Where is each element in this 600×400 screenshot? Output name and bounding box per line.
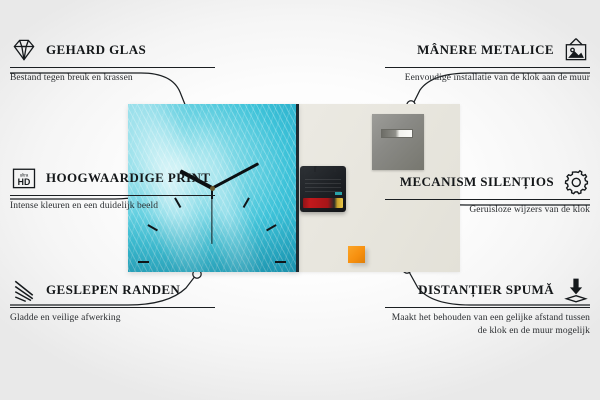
feature-distantier-spuma: DISTANȚIER SPUMĂ Maakt het behouden van … xyxy=(385,276,590,337)
infographic-canvas: GEHARD GLAS Bestand tegen breuk en krass… xyxy=(0,0,600,400)
svg-text:HD: HD xyxy=(18,177,31,187)
ultra-hd-icon: ultra HD xyxy=(10,164,38,192)
feature-description: Gladde en veilige afwerking xyxy=(10,308,215,325)
minute-hand xyxy=(211,162,258,189)
hour-tick xyxy=(275,261,286,263)
feature-header: MÂNERE METALICE xyxy=(385,36,590,67)
hanger-keyhole-slot xyxy=(381,129,413,138)
feature-description: Eenvoudige installatie van de klok aan d… xyxy=(385,68,590,85)
feature-header: DISTANȚIER SPUMĂ xyxy=(385,276,590,307)
feature-title: MECANISM SILENȚIOS xyxy=(400,174,554,189)
feature-description: Geruisloze wijzers van de klok xyxy=(385,200,590,217)
picture-hanging-icon xyxy=(562,36,590,64)
feature-manere-metalice: MÂNERE METALICE Eenvoudige installatie v… xyxy=(385,36,590,85)
feature-header: GESLEPEN RANDEN xyxy=(10,276,215,307)
movement-hanging-loop xyxy=(314,166,336,172)
beveled-edges-icon xyxy=(10,276,38,304)
hour-tick xyxy=(138,261,149,263)
feature-geslepen-randen: GESLEPEN RANDEN Gladde en veilige afwerk… xyxy=(10,276,215,325)
feature-description: Maakt het behouden van een gelijke afsta… xyxy=(385,308,590,337)
feature-hoogwaardige-print: ultra HD HOOGWAARDIGE PRINT Intense kleu… xyxy=(10,164,215,213)
diamond-icon xyxy=(10,36,38,64)
feature-gehard-glas: GEHARD GLAS Bestand tegen breuk en krass… xyxy=(10,36,215,85)
feature-header: ultra HD HOOGWAARDIGE PRINT xyxy=(10,164,215,195)
feature-header: MECANISM SILENȚIOS xyxy=(385,168,590,199)
feature-title: GEHARD GLAS xyxy=(46,42,146,57)
feature-title: HOOGWAARDIGE PRINT xyxy=(46,170,210,185)
feature-mecanism-silentios: MECANISM SILENȚIOS Geruisloze wijzers va… xyxy=(385,168,590,217)
feature-title: GESLEPEN RANDEN xyxy=(46,282,180,297)
clock-movement xyxy=(300,166,346,212)
gear-icon xyxy=(562,168,590,196)
spacer-arrow-icon xyxy=(562,276,590,304)
feature-description: Intense kleuren en een duidelijk beeld xyxy=(10,196,215,213)
movement-marking xyxy=(335,192,342,195)
feature-title: MÂNERE METALICE xyxy=(417,42,554,57)
feature-header: GEHARD GLAS xyxy=(10,36,215,67)
foam-spacer xyxy=(348,246,365,263)
feature-title: DISTANȚIER SPUMĂ xyxy=(418,282,554,297)
metal-hanger-plate xyxy=(372,114,424,170)
feature-description: Bestand tegen breuk en krassen xyxy=(10,68,215,85)
hour-tick xyxy=(266,224,277,231)
hour-tick xyxy=(147,224,158,231)
battery xyxy=(303,198,343,208)
hour-tick xyxy=(243,197,250,208)
movement-label xyxy=(305,176,341,192)
